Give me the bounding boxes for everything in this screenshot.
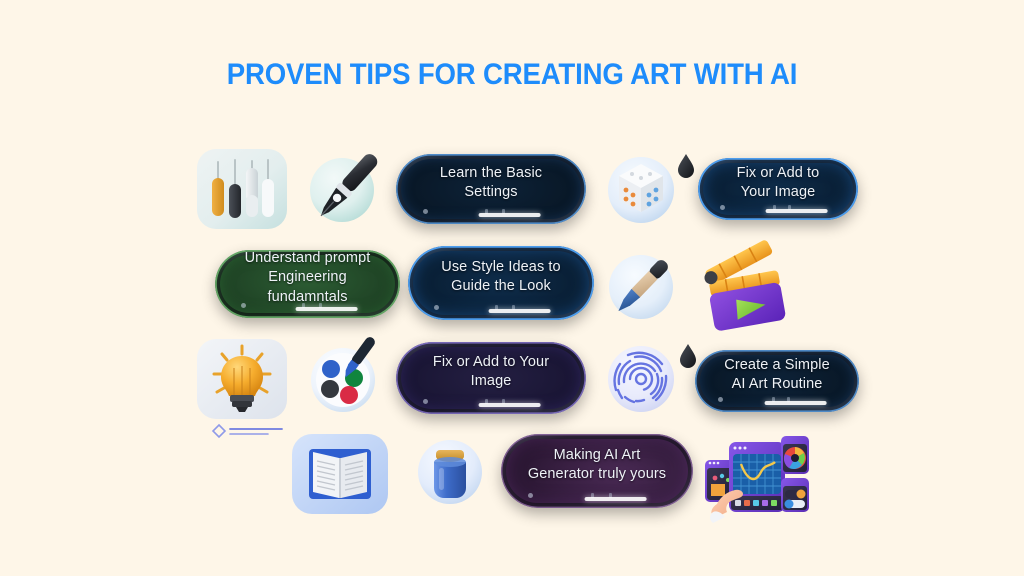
status-dot — [528, 493, 533, 498]
pill-label: Fix or Add to Your Image — [724, 164, 832, 206]
paintbrush-icon — [600, 246, 684, 328]
pill-label: Making AI Art Generator truly yours — [527, 446, 667, 488]
fountain-pen-icon — [302, 148, 386, 230]
lightbulb-icon — [196, 338, 288, 420]
home-indicator[interactable] — [585, 497, 647, 501]
page-title: PROVEN TIPS FOR CREATING ART WITH AI — [41, 58, 983, 92]
pill-prompt-engineering[interactable]: Understand prompt Engineering fundamntal… — [215, 250, 400, 318]
design-workstation-icon — [703, 432, 811, 524]
teardrop-icon — [676, 152, 696, 180]
pill-label: Use Style Ideas to Guide the Look — [434, 258, 568, 300]
infographic-canvas: PROVEN TIPS FOR CREATING ART WITH AI — [0, 0, 1024, 576]
slider-diamond-icon — [210, 422, 290, 445]
status-dot — [423, 399, 428, 404]
pill-ai-art-routine[interactable]: Create a Simple AI Art Routine — [695, 350, 859, 412]
home-indicator[interactable] — [489, 309, 551, 313]
home-indicator[interactable] — [479, 403, 541, 407]
pill-fix-add-image-top[interactable]: Fix or Add to Your Image — [698, 158, 858, 220]
ink-bottle-icon — [408, 430, 492, 514]
clapperboard-icon — [697, 246, 793, 332]
status-dot — [434, 305, 439, 310]
status-dot — [718, 397, 723, 402]
home-indicator[interactable] — [765, 401, 827, 405]
pill-label: Fix or Add to Your Image — [422, 353, 560, 395]
open-book-icon — [290, 432, 390, 516]
pill-learn-basic-settings[interactable]: Learn the Basic Settings — [396, 154, 586, 224]
status-dot — [241, 303, 246, 308]
pill-fix-add-image-mid[interactable]: Fix or Add to Your Image — [396, 342, 586, 414]
fingerprint-icon — [600, 338, 684, 420]
pill-label: Learn the Basic Settings — [422, 164, 560, 206]
pill-truly-yours[interactable]: Making AI Art Generator truly yours — [501, 434, 693, 508]
teardrop-icon — [678, 342, 698, 370]
sliders-icon — [196, 148, 288, 230]
dice-cube-icon — [598, 148, 684, 230]
home-indicator[interactable] — [479, 213, 541, 217]
pill-style-ideas[interactable]: Use Style Ideas to Guide the Look — [408, 246, 594, 320]
home-indicator[interactable] — [295, 307, 357, 311]
home-indicator[interactable] — [766, 209, 828, 213]
pill-label: Create a Simple AI Art Routine — [721, 356, 833, 398]
paint-palette-icon — [302, 338, 386, 420]
pill-label: Understand prompt Engineering fundamntal… — [241, 250, 374, 311]
status-dot — [423, 209, 428, 214]
